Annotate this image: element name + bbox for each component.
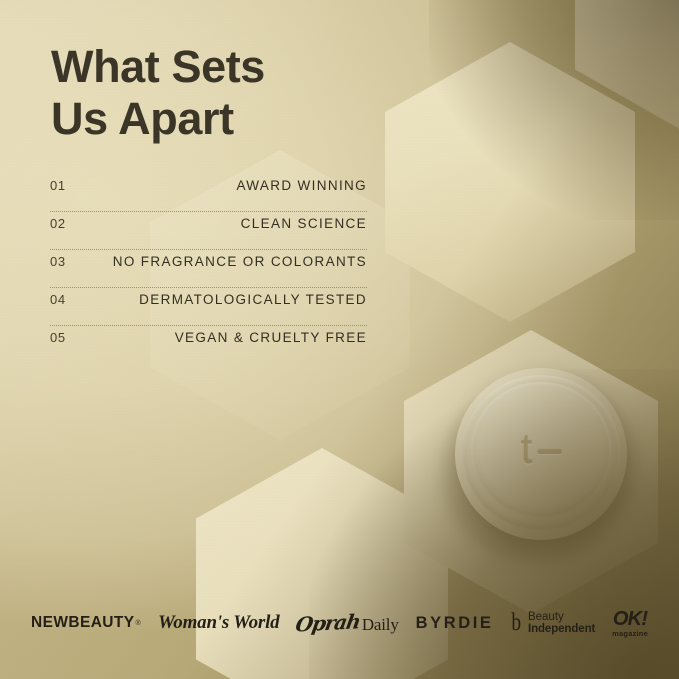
logo-daily-text: Daily bbox=[362, 615, 399, 635]
logo-newbeauty: NEWBEAUTY® bbox=[31, 614, 141, 632]
logo-beauty-line1: Beauty bbox=[528, 611, 595, 623]
feature-number: 05 bbox=[50, 330, 66, 345]
press-logo-row: NEWBEAUTY® Woman's World Oprah Daily BYR… bbox=[0, 603, 679, 643]
logo-ok-subtext: magazine bbox=[612, 630, 648, 638]
feature-number: 02 bbox=[50, 216, 66, 231]
feature-divider bbox=[50, 287, 367, 288]
logo-byrdie: BYRDIE bbox=[416, 614, 494, 633]
feature-row: 02 CLEAN SCIENCE bbox=[50, 216, 367, 246]
feature-divider bbox=[50, 249, 367, 250]
logo-oprah-script: Oprah bbox=[294, 609, 362, 636]
logo-womans-world-text: Woman's World bbox=[158, 612, 279, 634]
feature-row: 03 NO FRAGRANCE OR COLORANTS bbox=[50, 254, 367, 284]
logo-ok-text: OK! bbox=[613, 609, 647, 629]
feature-label: VEGAN & CRUELTY FREE bbox=[175, 330, 367, 345]
shadow-top-right bbox=[429, 0, 679, 220]
feature-label: NO FRAGRANCE OR COLORANTS bbox=[113, 254, 367, 269]
logo-oprah-daily: Oprah Daily bbox=[296, 611, 398, 635]
promo-graphic: t What Sets Us Apart 01 AWARD WINNING 02… bbox=[0, 0, 679, 679]
feature-label: AWARD WINNING bbox=[236, 178, 367, 193]
feature-label: DERMATOLOGICALLY TESTED bbox=[139, 292, 367, 307]
page-title: What Sets Us Apart bbox=[51, 41, 265, 145]
feature-row: 01 AWARD WINNING bbox=[50, 178, 367, 208]
logo-byrdie-text: BYRDIE bbox=[416, 614, 494, 633]
feature-divider bbox=[50, 211, 367, 212]
logo-beauty-independent: b Beauty Independent bbox=[510, 611, 595, 636]
feature-number: 04 bbox=[50, 292, 66, 307]
feature-row: 05 VEGAN & CRUELTY FREE bbox=[50, 330, 367, 360]
logo-ok-magazine: OK! magazine bbox=[612, 609, 648, 638]
feature-divider bbox=[50, 325, 367, 326]
b-mark-icon: b bbox=[512, 613, 522, 634]
logo-beauty-independent-text: Beauty Independent bbox=[528, 611, 595, 636]
feature-label: CLEAN SCIENCE bbox=[241, 216, 367, 231]
feature-row: 04 DERMATOLOGICALLY TESTED bbox=[50, 292, 367, 322]
logo-newbeauty-text: NEWBEAUTY bbox=[31, 614, 135, 632]
logo-beauty-line2: Independent bbox=[528, 623, 595, 635]
feature-number: 03 bbox=[50, 254, 66, 269]
feature-list: 01 AWARD WINNING 02 CLEAN SCIENCE 03 NO … bbox=[50, 178, 367, 360]
feature-number: 01 bbox=[50, 178, 66, 193]
logo-womans-world: Woman's World bbox=[158, 612, 279, 634]
registered-mark-icon: ® bbox=[136, 620, 142, 627]
